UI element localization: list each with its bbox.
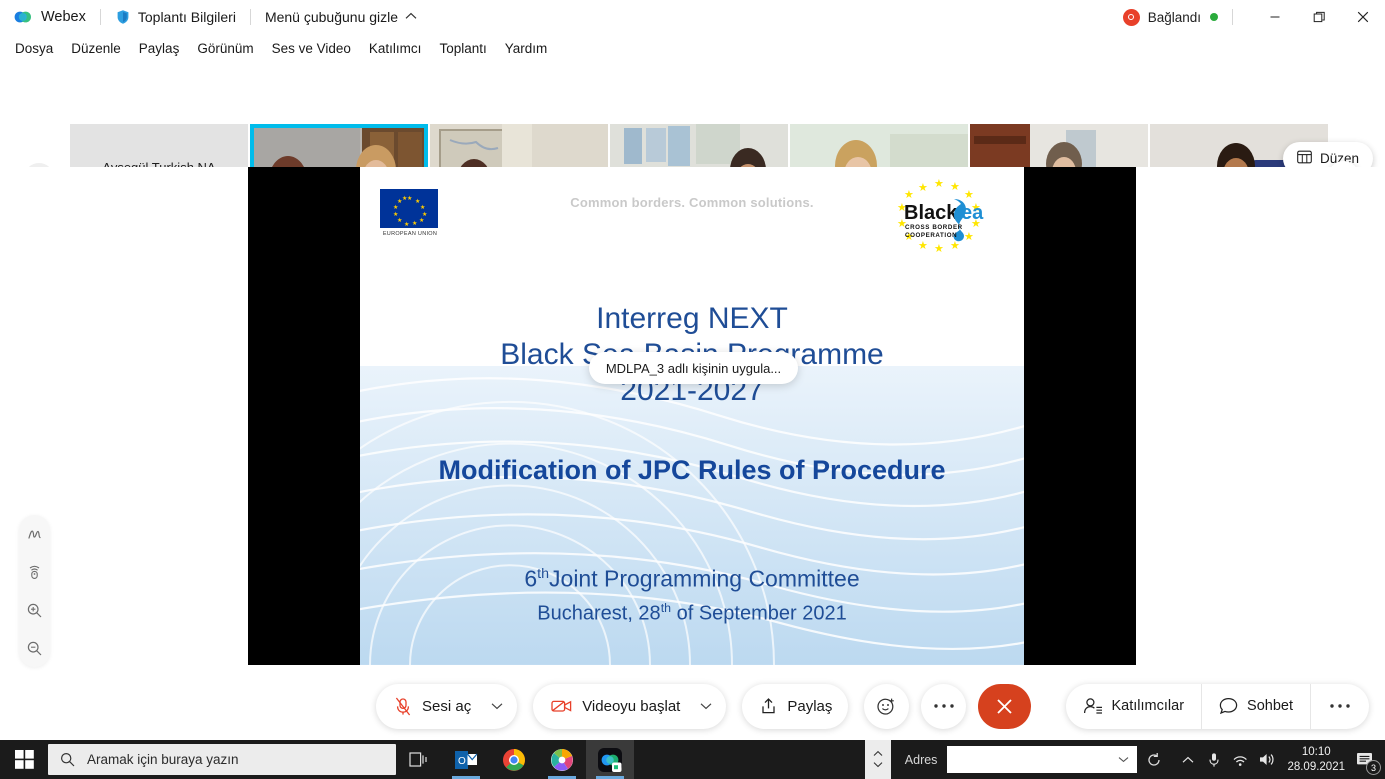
chevron-down-icon[interactable]: [1118, 754, 1129, 766]
end-meeting-button[interactable]: [978, 684, 1031, 729]
participants-button[interactable]: Katılımcılar: [1066, 684, 1203, 729]
layout-grid-icon: [1297, 150, 1320, 167]
svg-text:★: ★: [950, 181, 960, 193]
microphone-muted-icon: [394, 697, 412, 716]
unmute-button-label: Sesi aç: [422, 698, 471, 715]
hide-menu-bar-label: Menü çubuğunu gizle: [265, 9, 398, 25]
footer-committee-text: Joint Programming Committee: [549, 566, 860, 592]
chevron-up-icon: [405, 11, 417, 23]
annotation-toolbar: [19, 515, 50, 667]
menu-item-paylas[interactable]: Paylaş: [130, 38, 189, 59]
hide-menu-bar-button[interactable]: Menü çubuğunu gizle: [265, 9, 417, 25]
video-thumbnail-strip: Ayşegül Turkish NA Ben: [0, 62, 1385, 167]
address-label: Adres: [905, 753, 938, 767]
maximize-button[interactable]: [1297, 0, 1341, 34]
share-upload-icon: [760, 697, 777, 715]
participants-icon: [1083, 697, 1103, 715]
menu-bar: Dosya Düzenle Paylaş Görünüm Ses ve Vide…: [0, 34, 1385, 62]
notification-center-button[interactable]: 3: [1345, 740, 1385, 779]
slide-subtitle: Modification of JPC Rules of Procedure: [360, 455, 1024, 486]
share-button[interactable]: Paylaş: [742, 697, 848, 715]
connection-status-label: Bağlandı: [1148, 10, 1201, 25]
audio-control: Sesi aç: [376, 684, 517, 729]
scroll-down-icon: [873, 760, 883, 771]
taskbar-app-outlook[interactable]: O: [442, 740, 490, 779]
titlebar-divider-3: [1232, 9, 1233, 25]
meeting-info-button[interactable]: Toplantı Bilgileri: [115, 9, 236, 25]
address-toolbar: Adres: [905, 740, 1172, 779]
presentation-slide[interactable]: ★ ★ ★ ★ ★ ★ ★ ★ ★ ★ ★ ★ EUROPEAN UNION: [360, 167, 1024, 665]
scroll-up-icon: [873, 749, 883, 760]
unmute-button[interactable]: Sesi aç: [376, 697, 487, 716]
search-icon: [60, 752, 75, 767]
start-button[interactable]: [0, 740, 48, 779]
webex-logo-icon: [12, 6, 34, 28]
chat-button-label: Sohbet: [1247, 698, 1293, 714]
app-brand-label: Webex: [41, 9, 86, 25]
share-control: Paylaş: [742, 684, 848, 729]
close-button[interactable]: [1341, 0, 1385, 34]
menu-item-toplanti[interactable]: Toplantı: [430, 38, 495, 59]
tray-volume-icon[interactable]: [1253, 740, 1279, 779]
shared-content-letterbox: ★ ★ ★ ★ ★ ★ ★ ★ ★ ★ ★ ★ EUROPEAN UNION: [248, 167, 1136, 665]
system-tray: 10:10 28.09.2021 3: [1175, 740, 1385, 779]
zoom-out-icon[interactable]: [22, 635, 48, 661]
slide-title-line-1: Interreg NEXT: [360, 301, 1024, 337]
share-button-label: Paylaş: [787, 698, 832, 715]
footer-ordinal-number: 6: [524, 566, 537, 592]
svg-text:Black: Black: [904, 202, 958, 224]
refresh-button[interactable]: [1137, 740, 1171, 779]
taskbar-clock[interactable]: 10:10 28.09.2021: [1287, 745, 1345, 775]
menu-item-gorunum[interactable]: Görünüm: [188, 38, 262, 59]
svg-text:★: ★: [934, 179, 944, 190]
menu-item-yardim[interactable]: Yardım: [496, 38, 557, 59]
menu-item-ses-ve-video[interactable]: Ses ve Video: [263, 38, 360, 59]
stamp-tool-icon[interactable]: [22, 559, 48, 585]
camera-off-icon: [551, 698, 572, 714]
shared-content-stage: ★ ★ ★ ★ ★ ★ ★ ★ ★ ★ ★ ★ EUROPEAN UNION: [0, 167, 1385, 672]
svg-text:★: ★: [950, 240, 960, 252]
connection-status: Bağlandı: [1123, 9, 1218, 26]
taskbar-search-box[interactable]: Aramak için buraya yazın: [48, 744, 396, 775]
taskbar-search-placeholder: Aramak için buraya yazın: [87, 752, 239, 767]
taskbar-app-webex[interactable]: [586, 740, 634, 779]
recording-icon: [1123, 9, 1140, 26]
more-options-button[interactable]: [921, 684, 966, 729]
footer-ordinal-suffix: th: [537, 566, 549, 582]
svg-text:★: ★: [918, 182, 928, 194]
tray-microphone-icon[interactable]: [1201, 740, 1227, 779]
notification-count-badge: 3: [1366, 760, 1381, 775]
reactions-button[interactable]: [864, 684, 909, 729]
connection-quality-dot-icon: [1210, 13, 1218, 21]
svg-text:★: ★: [934, 243, 944, 255]
taskbar-scroll-arrows[interactable]: [865, 740, 891, 779]
svg-text:O: O: [458, 756, 466, 767]
titlebar-right-group: Bağlandı: [1123, 0, 1385, 34]
tray-network-icon[interactable]: [1227, 740, 1253, 779]
meeting-info-label: Toplantı Bilgileri: [138, 9, 236, 25]
webex-meeting-window: Webex Toplantı Bilgileri Menü çubuğunu g…: [0, 0, 1385, 779]
eu-logo-caption: EUROPEAN UNION: [380, 231, 440, 237]
windows-taskbar: Aramak için buraya yazın O: [0, 740, 1385, 779]
svg-text:★: ★: [964, 189, 974, 201]
taskbar-right-area: Adres: [865, 740, 1385, 779]
svg-text:★: ★: [964, 231, 974, 243]
chat-button[interactable]: Sohbet: [1202, 684, 1311, 729]
titlebar-divider-1: [100, 9, 101, 25]
video-options-caret[interactable]: [696, 702, 726, 710]
black-sea-logo: ★ ★ ★ ★ ★ ★ ★ ★ ★ ★ ★ ★ ★ ★: [878, 179, 1006, 259]
task-view-button[interactable]: [396, 740, 442, 779]
slide-footer: 6thJoint Programming Committee Bucharest…: [360, 559, 1024, 627]
menu-item-dosya[interactable]: Dosya: [6, 38, 62, 59]
svg-text:COOPERATION: COOPERATION: [905, 232, 957, 239]
clock-time: 10:10: [1287, 745, 1345, 760]
svg-text:CROSS BORDER: CROSS BORDER: [905, 224, 963, 231]
video-control: Videoyu başlat: [533, 684, 726, 729]
right-control-group: Katılımcılar Sohbet: [1066, 684, 1369, 729]
pointer-tool-icon[interactable]: [22, 521, 48, 547]
start-video-button-label: Videoyu başlat: [582, 698, 680, 715]
sharing-notification-tooltip: MDLPA_3 adlı kişinin uygula...: [589, 352, 798, 384]
footer-location-date-pre: Bucharest, 28: [537, 602, 660, 624]
zoom-in-icon[interactable]: [22, 597, 48, 623]
meeting-control-bar: Sesi aç Videoyu başlat: [0, 672, 1385, 740]
footer-date-post: of September 2021: [671, 602, 847, 624]
titlebar-divider-2: [250, 9, 251, 25]
minimize-button[interactable]: [1253, 0, 1297, 34]
tray-expand-icon[interactable]: [1175, 740, 1201, 779]
shield-icon: [115, 9, 131, 25]
title-bar: Webex Toplantı Bilgileri Menü çubuğunu g…: [0, 0, 1385, 34]
svg-text:★: ★: [918, 240, 928, 252]
participants-button-label: Katılımcılar: [1112, 698, 1185, 714]
slide-footer-line-1: 6thJoint Programming Committee: [360, 559, 1024, 594]
menu-item-duzenle[interactable]: Düzenle: [62, 38, 130, 59]
taskbar-app-chrome[interactable]: [490, 740, 538, 779]
clock-date: 28.09.2021: [1287, 760, 1345, 775]
window-controls: [1253, 0, 1385, 34]
right-more-options-button[interactable]: [1311, 684, 1369, 729]
slide-footer-line-2: Bucharest, 28th of September 2021: [360, 594, 1024, 628]
audio-options-caret[interactable]: [487, 702, 517, 710]
taskbar-app-photos[interactable]: [538, 740, 586, 779]
address-input[interactable]: [947, 746, 1137, 773]
start-video-button[interactable]: Videoyu başlat: [533, 698, 696, 715]
svg-text:★: ★: [904, 189, 914, 201]
menu-item-katilimci[interactable]: Katılımcı: [360, 38, 431, 59]
chat-bubble-icon: [1219, 697, 1238, 715]
footer-date-suffix: th: [661, 601, 671, 615]
